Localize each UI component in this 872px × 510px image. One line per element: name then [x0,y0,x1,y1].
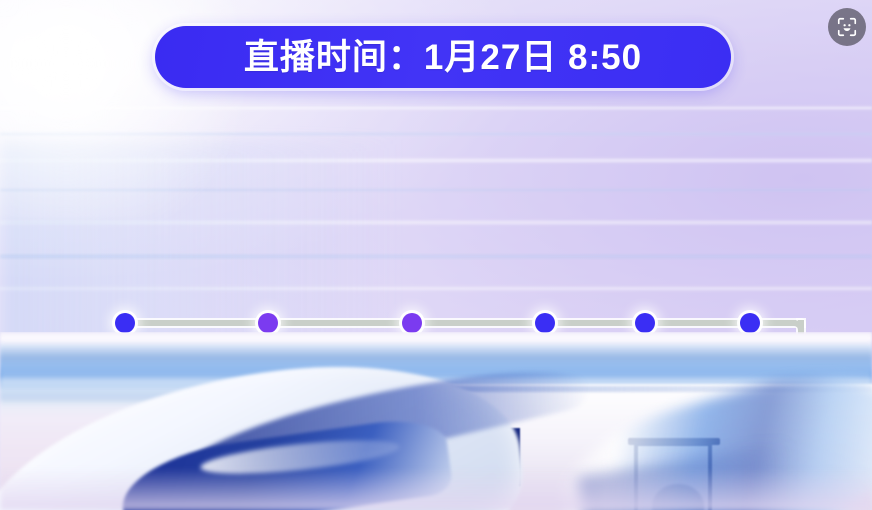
station-dot-南京南[interactable] [402,313,422,333]
live-time-text: 直播时间：1月27日 8:50 [244,40,642,75]
high-speed-train-image [0,332,872,510]
station-dot-无锡东[interactable] [258,313,278,333]
rail-line-row1 [133,320,758,326]
route-map: 上海虹桥无锡东南京南合肥南武汉岳阳东 香港西九龙深圳北广州南郴州西长沙南 [0,150,872,340]
station-dot-岳阳东[interactable] [740,313,760,333]
station-dot-上海虹桥[interactable] [115,313,135,333]
scan-icon [836,16,858,38]
live-stream-promo-poster: 直播时间：1月27日 8:50 上海虹桥无锡东南京南合肥南武汉岳阳东 香港西九龙… [0,0,872,510]
station-dot-武汉[interactable] [635,313,655,333]
live-time-banner: 直播时间：1月27日 8:50 [155,26,731,88]
scan-button[interactable] [828,8,866,46]
station-dot-合肥南[interactable] [535,313,555,333]
train-ground-blur [0,468,872,510]
